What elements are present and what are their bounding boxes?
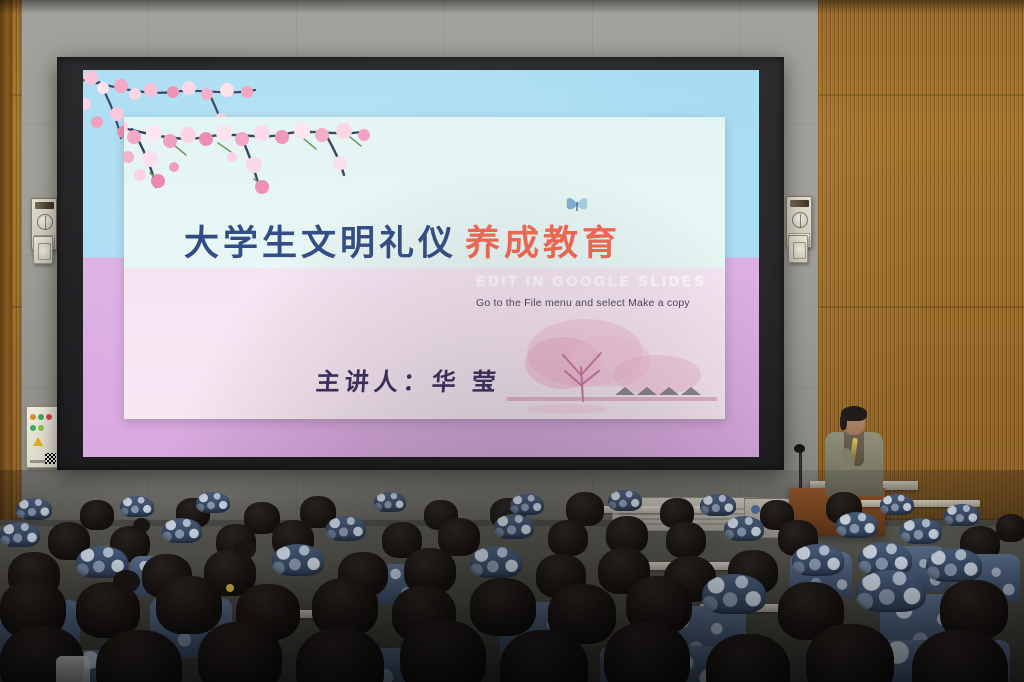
student-cap: [900, 518, 942, 544]
student-head: [548, 520, 588, 556]
hair-tie: [226, 584, 234, 592]
student-cap: [374, 492, 406, 512]
slide-content-card: 大学生文明礼仪养成教育 EDIT IN GOOGLE SLIDES Go to …: [124, 117, 725, 419]
student-cap: [510, 494, 544, 515]
panel-display: [35, 202, 54, 209]
student-cap: [196, 492, 230, 513]
slide-title: 大学生文明礼仪养成教育: [184, 215, 621, 266]
student-cap: [0, 522, 40, 547]
slide-ghost-heading: EDIT IN GOOGLE SLIDES: [476, 274, 706, 290]
student-head: [470, 578, 536, 636]
student-head: [666, 522, 706, 558]
sign-text-lines: [30, 460, 46, 463]
panel-display: [790, 200, 809, 207]
warning-dot-icon: [30, 414, 36, 420]
wall-outlet-right[interactable]: [788, 235, 808, 263]
projection-screen-frame: 大学生文明礼仪养成教育 EDIT IN GOOGLE SLIDES Go to …: [57, 57, 784, 470]
warning-triangle-icon: [33, 437, 43, 446]
auditorium-scene: 大学生文明礼仪养成教育 EDIT IN GOOGLE SLIDES Go to …: [0, 0, 1024, 682]
card-top-band: [124, 117, 725, 268]
wood-trim-left-edge: [0, 0, 12, 520]
student-cap: [470, 546, 522, 578]
student-cap: [836, 512, 878, 538]
student-cap: [880, 494, 914, 515]
projected-slide: 大学生文明礼仪养成教育 EDIT IN GOOGLE SLIDES Go to …: [83, 70, 759, 457]
qr-code-icon: [45, 453, 56, 464]
student-head: [80, 500, 114, 530]
student-cap: [494, 514, 534, 539]
microphone-icon: [794, 444, 805, 453]
student-cap: [856, 570, 926, 612]
wall-outlet-left[interactable]: [33, 236, 53, 264]
projector-glare: [83, 70, 759, 457]
ceiling-shadow: [0, 0, 1024, 14]
student-head: [604, 622, 690, 682]
slide-title-main: 大学生文明礼仪: [184, 224, 457, 263]
panel-knob-icon[interactable]: [37, 214, 53, 230]
student-cap: [944, 504, 980, 526]
student-cap: [326, 516, 366, 541]
slide-subtitle: Go to the File menu and select Make a co…: [476, 297, 690, 309]
cherry-tree-illustration: [507, 309, 717, 419]
student-head: [198, 622, 282, 682]
student-cap: [792, 544, 844, 576]
student-cap: [724, 516, 764, 541]
student-cap: [162, 518, 202, 543]
student-head: [400, 620, 486, 682]
student-cap: [16, 498, 52, 520]
presenter-hair-side: [840, 414, 847, 430]
slide-background: [83, 70, 759, 457]
student-cap: [120, 496, 154, 517]
student-head: [156, 576, 222, 634]
audience: [0, 470, 1024, 682]
student-cap: [702, 574, 766, 614]
white-bag: [56, 656, 90, 682]
ok-dot-icon: [30, 425, 36, 431]
student-cap: [272, 544, 324, 576]
student-cap: [926, 548, 982, 582]
panel-knob-icon[interactable]: [792, 212, 808, 228]
student-head: [806, 624, 894, 682]
student-cap: [608, 490, 642, 511]
card-bottom-band: [124, 268, 725, 419]
student-cap: [700, 494, 736, 516]
ok-dot-icon: [38, 414, 44, 420]
ok-dot-icon: [38, 425, 44, 431]
danger-dot-icon: [46, 414, 52, 420]
slide-speaker-line: 主讲人：华 莹: [315, 362, 502, 397]
butterfly-icon: [564, 192, 590, 216]
cherry-blossom-branch-outer: [83, 70, 367, 202]
student-head: [996, 514, 1024, 542]
slide-title-accent: 养成教育: [465, 224, 621, 263]
cherry-blossom-branch-icon: [124, 117, 424, 233]
safety-notice-placard: [26, 406, 60, 468]
